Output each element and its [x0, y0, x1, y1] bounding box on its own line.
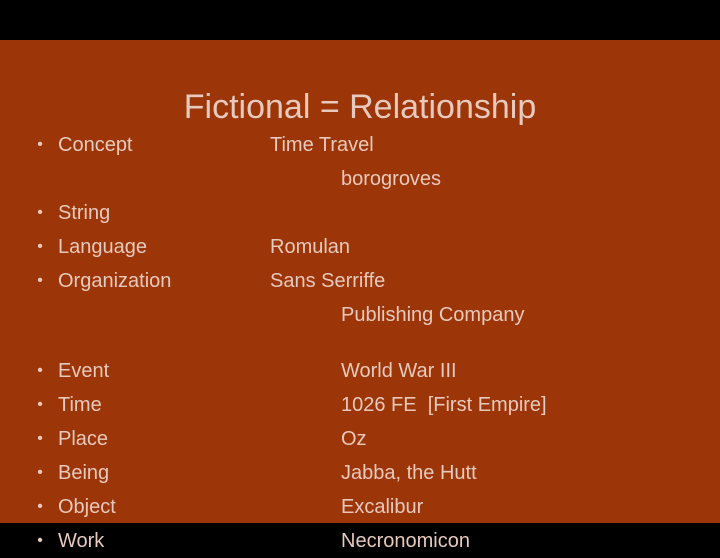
list-item: •OrganizationSans Serriffe — [24, 264, 696, 298]
list-item-value: Sans Serriffe — [270, 264, 385, 298]
list-item-label: Language — [58, 230, 147, 264]
list-item-value: Jabba, the Hutt — [341, 456, 477, 490]
list-item-label: Time — [58, 388, 102, 422]
list-item: borogroves — [24, 162, 696, 196]
list-item-label: Work — [58, 524, 104, 558]
list-item-label: Organization — [58, 264, 171, 298]
bullet-point-icon: • — [34, 230, 46, 264]
list-item-label: Object — [58, 490, 116, 524]
list-spacer — [24, 332, 696, 354]
list-item: •PlaceOz — [24, 422, 696, 456]
list-item-label: Being — [58, 456, 109, 490]
list-item-label: String — [58, 196, 110, 230]
list-item: •Time1026 FE [First Empire] — [24, 388, 696, 422]
slide-canvas: Fictional = Relationship •ConceptTime Tr… — [0, 40, 720, 523]
list-item: •String — [24, 196, 696, 230]
list-item: •WorkNecronomicon — [24, 524, 696, 558]
list-item: •BeingJabba, the Hutt — [24, 456, 696, 490]
bullet-point-icon: • — [34, 524, 46, 558]
list-item: •ObjectExcalibur — [24, 490, 696, 524]
page-title: Fictional = Relationship — [0, 87, 720, 127]
list-item: •ConceptTime Travel — [24, 128, 696, 162]
slide-stage: Fictional = Relationship •ConceptTime Tr… — [0, 0, 720, 540]
bullet-point-icon: • — [34, 264, 46, 298]
list-item-value: Publishing Company — [341, 298, 524, 332]
bullet-point-icon: • — [34, 490, 46, 524]
list-item-value: borogroves — [341, 162, 441, 196]
list-item: •LanguageRomulan — [24, 230, 696, 264]
bullet-point-icon: • — [34, 388, 46, 422]
list-item-value: Romulan — [270, 230, 350, 264]
list-item-value: Oz — [341, 422, 367, 456]
bullet-point-icon: • — [34, 354, 46, 388]
bullet-point-icon: • — [34, 422, 46, 456]
bullet-list: •ConceptTime Travelborogroves•String•Lan… — [24, 128, 696, 558]
list-item-label: Place — [58, 422, 108, 456]
list-item-value: Necronomicon — [341, 524, 470, 558]
bullet-point-icon: • — [34, 456, 46, 490]
list-item: •EventWorld War III — [24, 354, 696, 388]
list-item-value: Excalibur — [341, 490, 423, 524]
bullet-point-icon: • — [34, 128, 46, 162]
list-item-label: Event — [58, 354, 109, 388]
list-item-value: Time Travel — [270, 128, 374, 162]
list-item-label: Concept — [58, 128, 133, 162]
list-item: Publishing Company — [24, 298, 696, 332]
list-item-value: 1026 FE [First Empire] — [341, 388, 547, 422]
list-item-value: World War III — [341, 354, 457, 388]
bullet-point-icon: • — [34, 196, 46, 230]
